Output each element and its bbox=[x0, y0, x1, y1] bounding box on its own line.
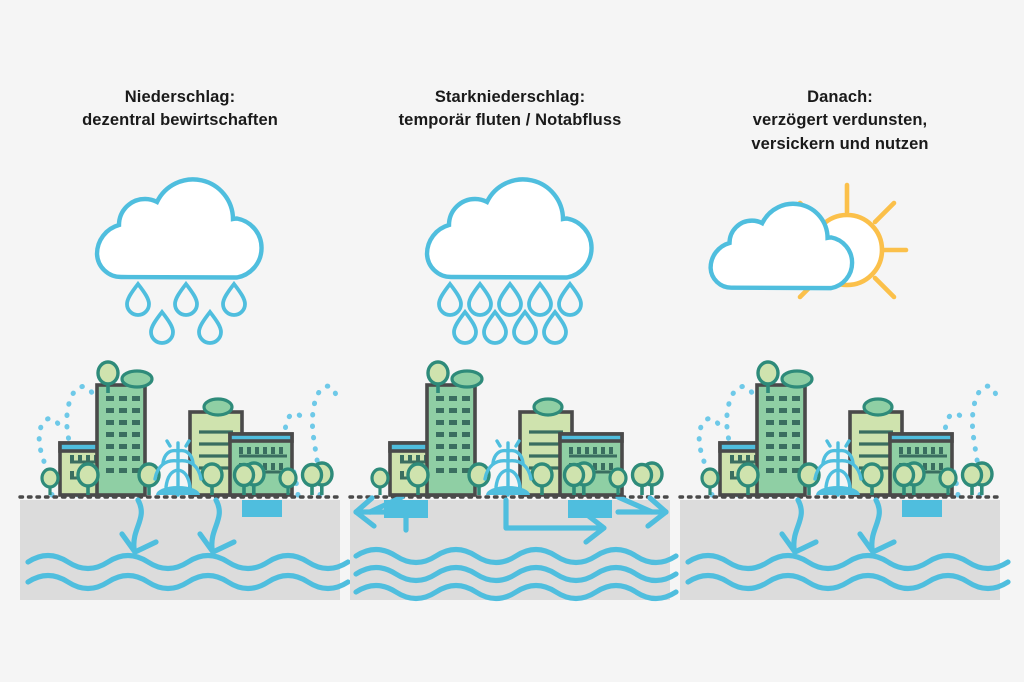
raindrops-group bbox=[127, 284, 245, 343]
heavy-raindrops-group bbox=[439, 284, 581, 343]
cistern bbox=[242, 500, 282, 517]
panel-niederschlag: Niederschlag: dezentral bewirtschaften bbox=[20, 0, 340, 682]
rain-cloud-icon bbox=[97, 179, 262, 277]
panel-3-artwork bbox=[680, 0, 1000, 682]
panel-2-artwork bbox=[350, 0, 670, 682]
panel-1-artwork bbox=[20, 0, 340, 682]
cistern bbox=[902, 500, 942, 517]
city-skyline bbox=[372, 362, 662, 495]
infographic-canvas: Niederschlag: dezentral bewirtschaften bbox=[0, 0, 1024, 682]
city-skyline bbox=[42, 362, 332, 495]
heavy-rain-cloud-icon bbox=[427, 179, 592, 277]
panel-starkniederschlag: Starkniederschlag: temporär fluten / Not… bbox=[350, 0, 670, 682]
panel-danach: Danach: verzögert verdunsten, versickern… bbox=[680, 0, 1000, 682]
city-skyline bbox=[702, 362, 992, 495]
